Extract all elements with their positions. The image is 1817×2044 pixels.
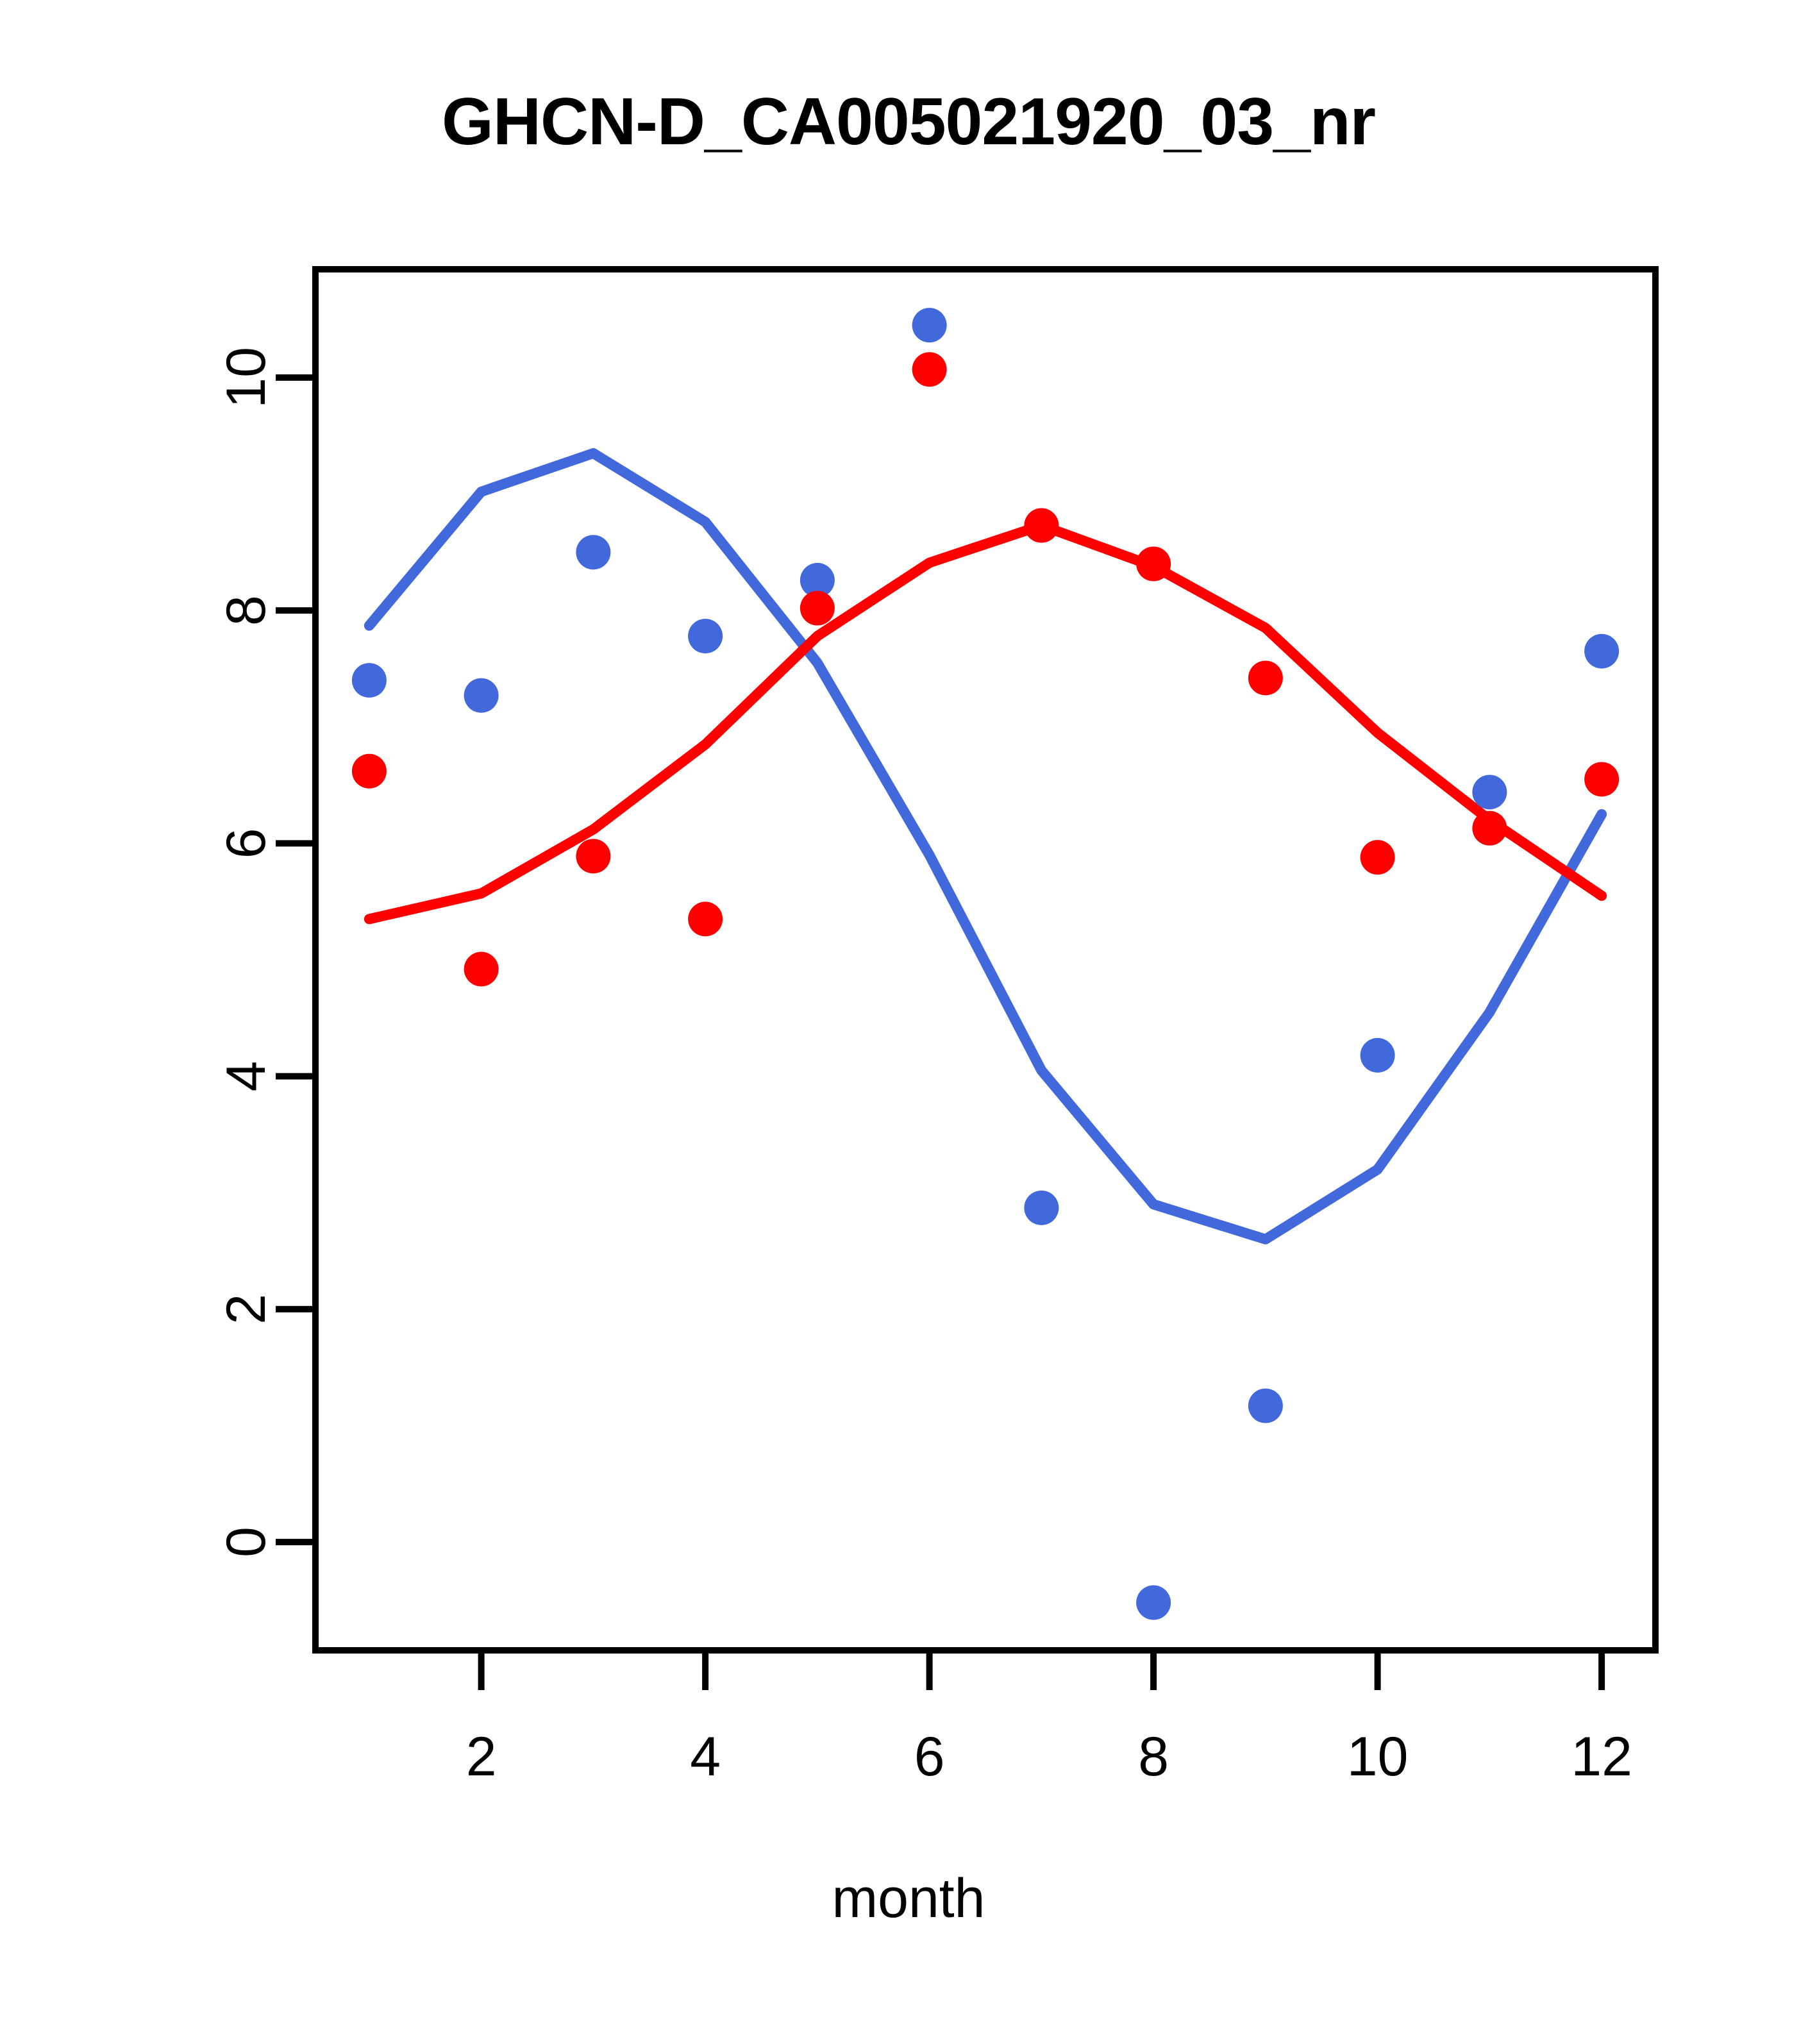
data-point-blue-points — [464, 678, 499, 713]
y-tick-label: 8 — [215, 595, 277, 626]
data-point-red-points — [464, 952, 499, 987]
data-point-red-points — [1136, 546, 1171, 581]
data-point-red-points — [352, 754, 387, 789]
data-point-blue-points — [576, 535, 610, 569]
data-point-blue-points — [1472, 775, 1507, 809]
data-point-blue-points — [1361, 1038, 1395, 1073]
x-tick-label: 10 — [1347, 1726, 1409, 1788]
data-point-blue-points — [912, 308, 947, 342]
data-point-red-points — [1472, 811, 1507, 846]
y-tick-label: 0 — [215, 1527, 277, 1557]
scatter-plot: 0246810 24681012 — [0, 0, 1817, 2044]
data-point-blue-points — [1024, 1191, 1059, 1225]
data-point-red-points — [912, 352, 947, 387]
data-point-blue-points — [352, 663, 387, 698]
data-point-red-points — [800, 591, 835, 626]
data-point-red-points — [1584, 762, 1619, 796]
x-tick-label: 2 — [466, 1726, 497, 1788]
data-point-blue-points — [1136, 1586, 1171, 1620]
data-point-blue-points — [1584, 634, 1619, 669]
data-point-blue-points — [1248, 1389, 1283, 1423]
x-tick-label: 6 — [914, 1726, 945, 1788]
x-axis: 24681012 — [466, 1650, 1632, 1788]
y-tick-label: 6 — [215, 828, 277, 859]
x-axis-label: month — [0, 1871, 1817, 1926]
data-point-red-points — [688, 901, 723, 936]
x-tick-label: 4 — [690, 1726, 721, 1788]
y-tick-label: 4 — [215, 1061, 277, 1092]
x-tick-label: 8 — [1138, 1726, 1169, 1788]
x-tick-label: 12 — [1571, 1726, 1632, 1788]
trend-line-red-fit-line — [369, 526, 1602, 919]
chart-canvas: GHCN-D_CA005021920_03_nr 0246810 2468101… — [0, 0, 1817, 2044]
data-point-red-points — [576, 839, 610, 873]
series-lines — [369, 453, 1602, 1239]
y-tick-label: 10 — [215, 347, 277, 408]
data-point-blue-points — [688, 619, 723, 653]
data-point-red-points — [1024, 508, 1059, 543]
data-point-red-points — [1248, 660, 1283, 695]
y-axis: 0246810 — [215, 347, 315, 1557]
data-point-red-points — [1361, 840, 1395, 875]
y-tick-label: 2 — [215, 1294, 277, 1325]
